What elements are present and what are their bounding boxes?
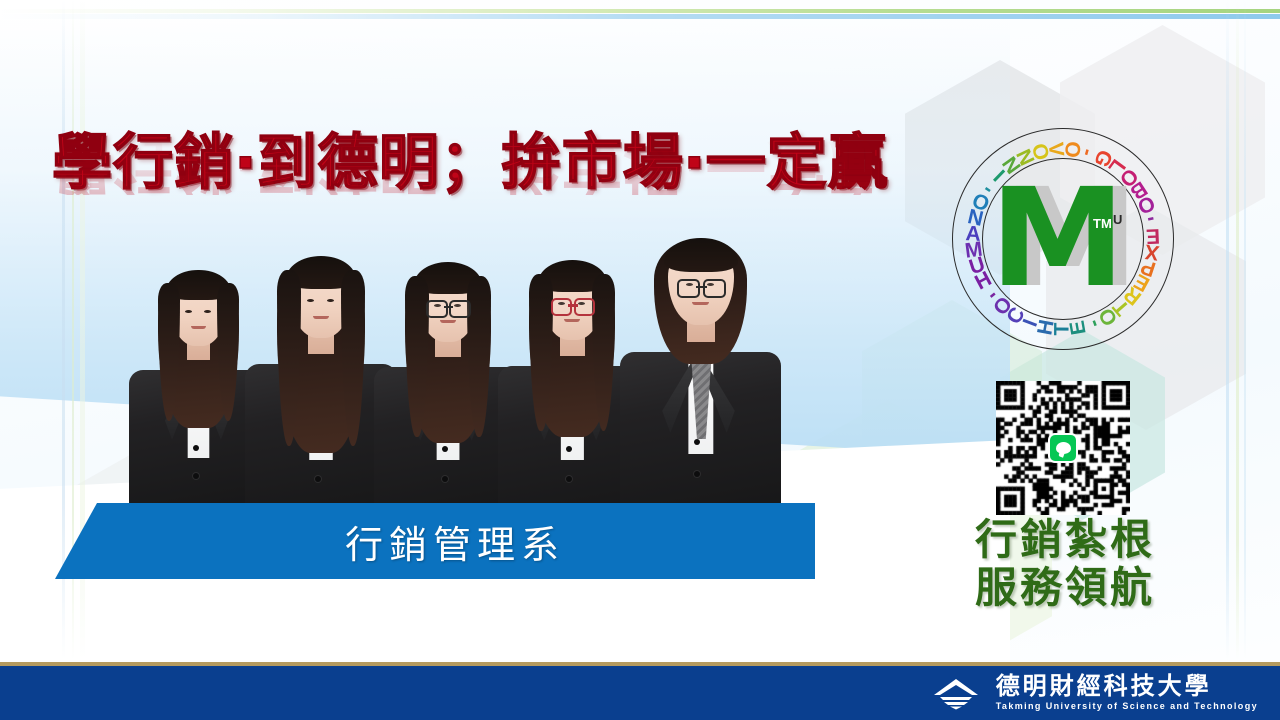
- jacket-button: [315, 476, 321, 482]
- lens-left: [551, 298, 573, 316]
- lens-right: [703, 279, 726, 298]
- line-qr-code[interactable]: [996, 381, 1130, 515]
- logo-letter-m: M: [990, 171, 1125, 307]
- lens-left: [677, 279, 700, 298]
- promotional-slide: 學行銷‧到德明；拚市場‧一定贏 學行銷‧到德明；拚市場‧一定贏: [0, 0, 1280, 720]
- slogan-line-1: 行銷紮根: [950, 516, 1180, 564]
- lens-right: [449, 300, 470, 318]
- top-accent-stripe-green: [0, 9, 1280, 13]
- logo-trademark: TM: [1093, 216, 1112, 231]
- glasses-bridge: [696, 286, 706, 289]
- mouth: [313, 316, 329, 319]
- mouth: [191, 326, 206, 329]
- tmu-circular-logo: M M TM U HUMANO-INNOVO-GLOBO-EXPERTO-ETH…: [952, 128, 1174, 350]
- eyeglasses: [426, 300, 471, 316]
- university-branding: 德明財經科技大學 Takming University of Science a…: [928, 674, 1258, 712]
- line-bubble-glyph: [1056, 442, 1071, 454]
- university-name-en: Takming University of Science and Techno…: [996, 701, 1258, 712]
- department-banner: 行銷管理系: [55, 503, 815, 579]
- hair-fringe: [664, 238, 738, 273]
- mountain-wave-icon: [928, 676, 984, 710]
- mouth: [564, 319, 580, 322]
- lens-left: [426, 300, 447, 318]
- lens-right: [574, 298, 596, 316]
- eye-left: [307, 299, 314, 302]
- logo-university-initial: U: [1113, 212, 1122, 227]
- students-photo: [112, 232, 784, 504]
- jacket-button: [193, 473, 199, 479]
- university-name-zh: 德明財經科技大學: [996, 674, 1258, 699]
- right-accent-stripe-2: [1236, 0, 1239, 660]
- jacket-button: [442, 476, 448, 482]
- student-figure: [620, 236, 780, 504]
- eye-right: [204, 310, 211, 313]
- right-accent-stripe-3: [1244, 0, 1246, 660]
- slogan-block: 行銷紮根 服務領航: [950, 516, 1180, 612]
- university-name-block: 德明財經科技大學 Takming University of Science a…: [996, 674, 1258, 712]
- glasses-bridge: [568, 304, 578, 307]
- slogan-line-2: 服務領航: [950, 564, 1180, 612]
- department-name: 行銷管理系: [305, 514, 565, 569]
- page-title-reflection: 學行銷‧到德明；拚市場‧一定贏: [52, 135, 872, 195]
- eyeglasses: [677, 279, 726, 296]
- left-accent-stripe-1: [62, 0, 65, 660]
- right-accent-stripe-1: [1226, 0, 1229, 660]
- mouth: [692, 302, 709, 305]
- line-messenger-icon: [1048, 433, 1078, 463]
- footer-bar: 德明財經科技大學 Takming University of Science a…: [0, 662, 1280, 720]
- glasses-bridge: [444, 306, 454, 309]
- jacket-button: [193, 445, 199, 451]
- eyeglasses: [551, 298, 596, 314]
